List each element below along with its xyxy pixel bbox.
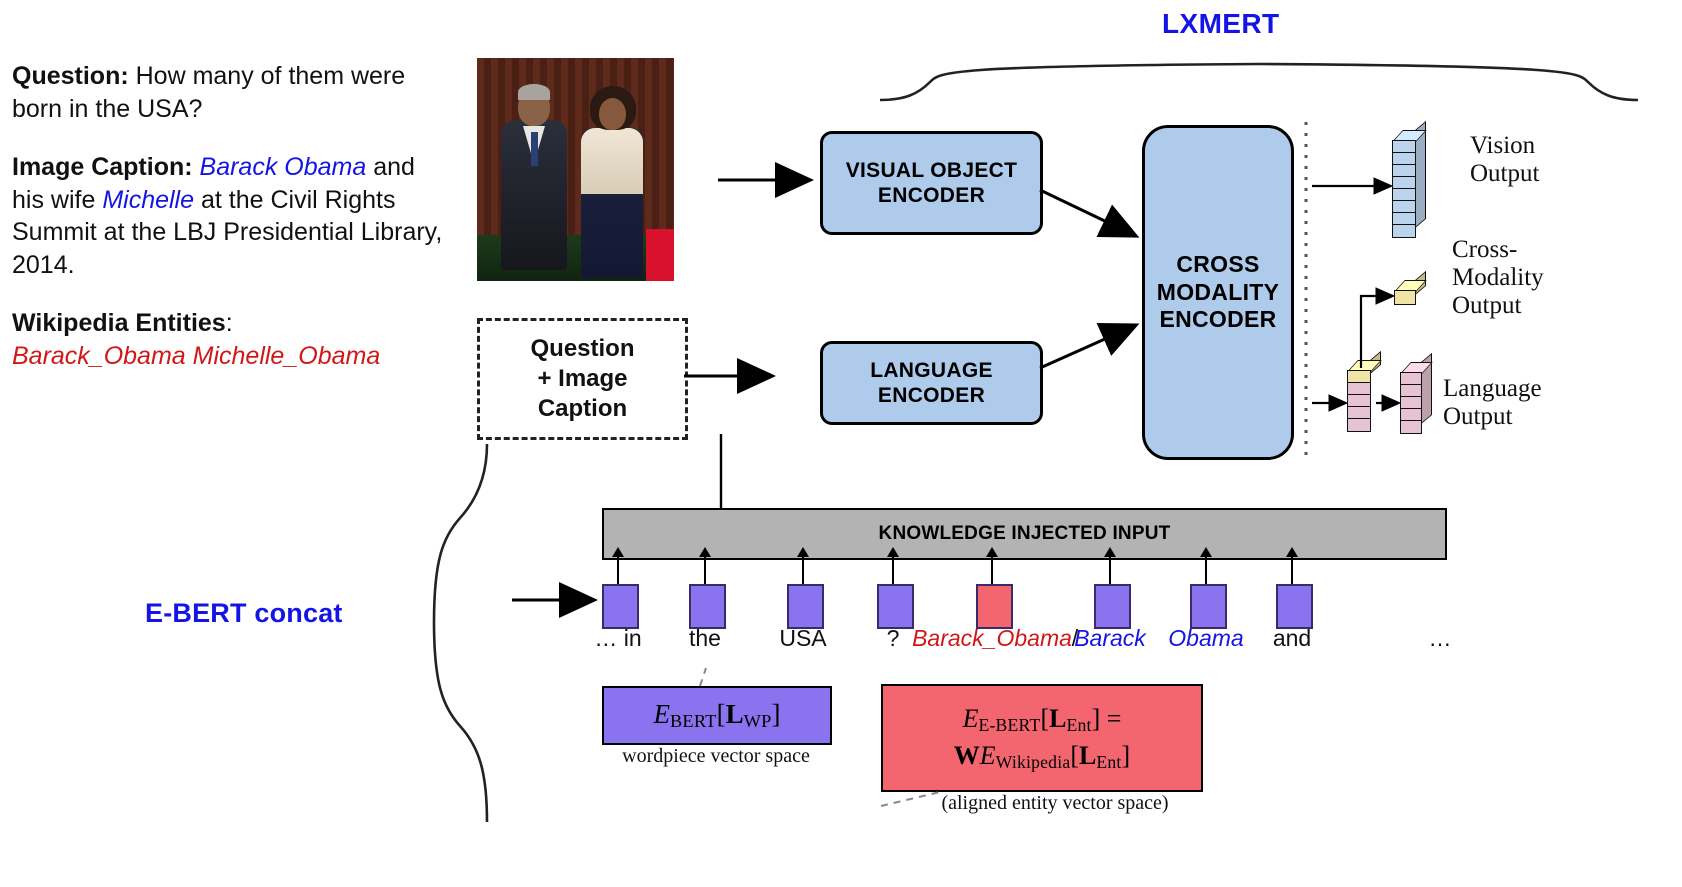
photo-woman-face [599, 98, 626, 130]
token-label-2: USA [779, 625, 826, 652]
token-box-7 [1190, 584, 1227, 629]
cross-modality-output-label: Cross- Modality Output [1452, 236, 1544, 320]
token-label-8: and [1273, 625, 1311, 652]
cm-output-line3: Output [1452, 292, 1544, 320]
vision-output-line2: Output [1470, 160, 1539, 188]
token-label-7: Obama [1168, 625, 1243, 652]
ent2-lbracket: [ [1070, 741, 1079, 770]
token-arrow-7 [1205, 556, 1207, 584]
token-box-0 [602, 584, 639, 629]
token-arrow-4 [991, 556, 993, 584]
photo-man-hair [518, 84, 550, 100]
token-label-9: … [1429, 625, 1452, 652]
token-box-2 [787, 584, 824, 629]
visual-object-encoder: VISUAL OBJECT ENCODER [820, 131, 1043, 235]
entities-block: Wikipedia Entities: Barack_Obama Michell… [12, 307, 452, 372]
qic-line1: Question [530, 334, 634, 364]
ent-equals: = [1107, 704, 1122, 733]
question-image-caption-box: Question + Image Caption [477, 318, 688, 440]
qic-line3: Caption [530, 394, 634, 424]
token-arrow-2 [802, 556, 804, 584]
entities-label: Wikipedia Entities [12, 309, 226, 337]
caption-entity-michelle: Michelle [102, 186, 194, 214]
ent2-script-e: E [980, 741, 996, 770]
wordpiece-formula-box: EBERT[LWP] [602, 686, 832, 745]
ent2-sub-wikipedia: Wikipedia [996, 752, 1071, 772]
token-label-3: ? [887, 625, 900, 652]
arrow-language-to-cross [1040, 326, 1134, 368]
ebert-brace [434, 444, 487, 822]
arrow-visual-to-cross [1040, 190, 1134, 235]
entity-caption: (aligned entity vector space) [905, 792, 1205, 815]
question-block: Question: How many of them were born in … [12, 60, 452, 125]
entity-formula-line2: WEWikipedia[LEnt] [954, 738, 1130, 775]
token-arrow-1 [704, 556, 706, 584]
language-vector-cell-4 [1347, 418, 1371, 432]
photo-red-accent [646, 229, 674, 281]
ent-rbracket: ] [1092, 704, 1101, 733]
question-label: Question: [12, 62, 129, 90]
wp-lbracket: [ [717, 699, 726, 729]
cm-output-line2: Modality [1452, 264, 1544, 292]
caption-seg1 [193, 153, 200, 181]
caption-label: Image Caption: [12, 153, 193, 181]
entities-colon: : [226, 309, 233, 337]
ent-script-e: E [963, 704, 979, 733]
ent-blackboard-l: L [1049, 704, 1066, 733]
vision-output-line1: Vision [1470, 132, 1539, 160]
ent2-sub-ent: Ent [1096, 752, 1121, 772]
token-arrow-0 [617, 556, 619, 584]
token-box-6 [1094, 584, 1131, 629]
lxmert-brace [880, 64, 1638, 100]
language-encoder: LANGUAGE ENCODER [820, 341, 1043, 425]
ent-lbracket: [ [1040, 704, 1049, 733]
token-box-4 [976, 584, 1013, 629]
knowledge-injected-input-bar: KNOWLEDGE INJECTED INPUT [602, 508, 1447, 560]
cm-output-line1: Cross- [1452, 236, 1544, 264]
cross-modality-encoder: CROSS MODALITY ENCODER [1142, 125, 1294, 460]
vision-output-block-cell-7 [1392, 224, 1416, 238]
vision-output-label: Vision Output [1470, 132, 1539, 188]
ebert-concat-label: E-BERT concat [145, 598, 343, 629]
cross-encoder-line3: ENCODER [1157, 306, 1280, 334]
token-box-8 [1276, 584, 1313, 629]
cross-modality-output-block-cell-0 [1394, 290, 1416, 305]
caption-block: Image Caption: Barack Obama and his wife… [12, 151, 452, 281]
cross-encoder-line2: MODALITY [1157, 279, 1280, 307]
cross-encoder-line1: CROSS [1157, 251, 1280, 279]
entity-formula-box: EE-BERT[LEnt] = WEWikipedia[LEnt] [881, 684, 1203, 792]
ent-matrix-w: W [954, 741, 980, 770]
wordpiece-caption: wordpiece vector space [600, 745, 832, 768]
qic-line2: + Image [530, 364, 634, 394]
wp-rbracket: ] [772, 699, 781, 729]
token-label-0: … in [594, 625, 641, 652]
wp-blackboard-l: L [726, 699, 744, 729]
language-encoder-line1: LANGUAGE [870, 358, 993, 383]
caption-entity-barack-obama: Barack Obama [200, 153, 367, 181]
leader-wordpiece [700, 668, 706, 686]
lang-output-line1: Language [1443, 375, 1542, 403]
ent2-blackboard-l: L [1079, 741, 1096, 770]
language-encoder-line2: ENCODER [870, 383, 993, 408]
input-text-panel: Question: How many of them were born in … [12, 60, 452, 398]
visual-encoder-line2: ENCODER [846, 183, 1018, 208]
knowledge-bar-label: KNOWLEDGE INJECTED INPUT [879, 523, 1171, 545]
visual-encoder-line1: VISUAL OBJECT [846, 158, 1018, 183]
token-box-3 [877, 584, 914, 629]
token-arrow-8 [1291, 556, 1293, 584]
language-output-block-cell-4 [1400, 420, 1422, 434]
lxmert-title: LXMERT [1162, 8, 1280, 40]
wp-sub-bert: BERT [670, 711, 717, 731]
entities-value: Barack_Obama Michelle_Obama [12, 340, 452, 373]
obama-couple-photo [477, 58, 674, 281]
photo-woman-top [581, 128, 643, 194]
token-label-4: Barack_Obama [912, 625, 1072, 652]
language-output-label: Language Output [1443, 375, 1542, 431]
photo-man-tie [531, 132, 538, 166]
token-arrow-6 [1109, 556, 1111, 584]
ent-sub-ebert: E-BERT [978, 715, 1040, 735]
token-label-6: Barack [1074, 625, 1146, 652]
token-arrow-3 [892, 556, 894, 584]
token-box-1 [689, 584, 726, 629]
wp-sub-wp: WP [744, 711, 772, 731]
token-label-1: the [689, 625, 721, 652]
wp-script-e: E [653, 699, 670, 729]
lang-output-line2: Output [1443, 403, 1542, 431]
ent-sub-ent: Ent [1066, 715, 1091, 735]
ent2-rbracket: ] [1122, 741, 1131, 770]
entity-formula-line1: EE-BERT[LEnt] = [963, 701, 1122, 738]
